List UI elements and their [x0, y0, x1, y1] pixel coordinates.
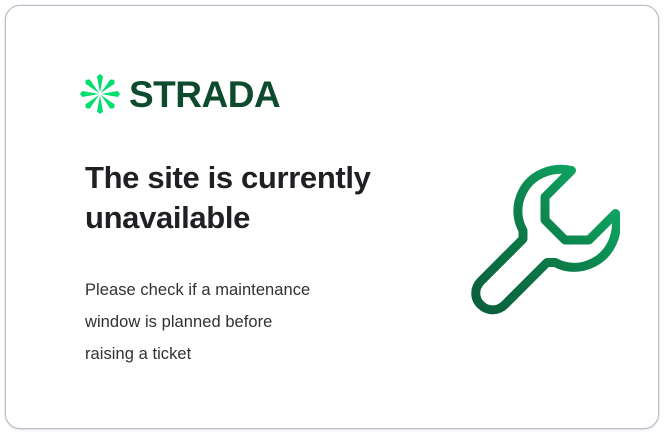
page-subtext: Please check if a maintenance window is … — [85, 237, 430, 370]
page-title-line-1: The site is currently — [85, 158, 430, 198]
wrench-icon — [458, 156, 620, 316]
page-title-line-2: unavailable — [85, 198, 430, 238]
page-title: The site is currently unavailable — [85, 158, 430, 237]
page-subtext-line-3: raising a ticket — [85, 338, 430, 370]
wrench-illustration — [458, 156, 620, 316]
page-subtext-line-2: window is planned before — [85, 306, 430, 338]
brand-wordmark: STRADA — [129, 76, 280, 113]
message-block: The site is currently unavailable Please… — [85, 158, 430, 370]
strada-asterisk-icon — [80, 74, 120, 114]
page-subtext-line-1: Please check if a maintenance — [85, 274, 430, 306]
maintenance-notice-card: STRADA The site is currently unavailable… — [5, 5, 659, 429]
brand-lockup: STRADA — [80, 74, 280, 114]
